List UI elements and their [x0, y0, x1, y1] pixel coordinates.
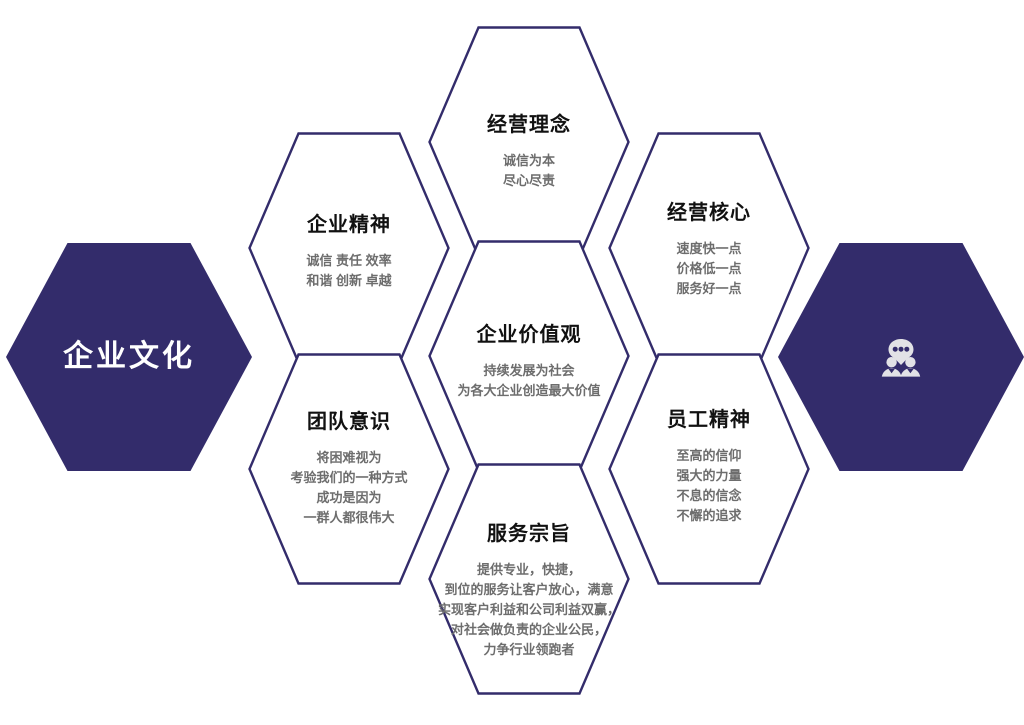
hexagon-lines-enterprise-spirit: 诚信 责任 效率 和谐 创新 卓越: [306, 251, 391, 291]
hexagon-line: 持续发展为社会: [457, 361, 600, 381]
hexagon-line: 力争行业领跑者: [438, 640, 620, 660]
hexagon-title-business-core: 经营核心: [667, 201, 751, 225]
hexagon-line: 将困难视为: [290, 448, 407, 468]
hexagon-line: 提供专业，快捷，: [438, 560, 620, 580]
hexagon-lines-service-purpose: 提供专业，快捷， 到位的服务让客户放心，满意 实现客户利益和公司利益双赢， 对社…: [438, 560, 620, 661]
hexagon-line: 诚信 责任 效率: [306, 251, 391, 271]
hexagon-line: 强大的力量: [676, 466, 741, 486]
hexagon-title-corporate-values: 企业价值观: [477, 323, 582, 347]
hexagon-line: 成功是因为: [290, 488, 407, 508]
hexagon-people-group[interactable]: [778, 243, 1024, 471]
hexagon-business-core[interactable]: 经营核心 速度快一点 价格低一点 服务好一点: [608, 132, 810, 364]
hexagon-title-employee-spirit: 员工精神: [667, 408, 751, 432]
hexagon-title-service-purpose: 服务宗旨: [487, 522, 571, 546]
hexagon-enterprise-culture[interactable]: 企业文化: [6, 243, 252, 471]
hexagon-line: 速度快一点: [676, 239, 741, 259]
hexagon-line: 尽心尽责: [503, 171, 555, 191]
hexagon-line: 到位的服务让客户放心，满意: [438, 580, 620, 600]
hexagon-title-team-awareness: 团队意识: [307, 410, 391, 434]
hexagon-line: 至高的信仰: [676, 446, 741, 466]
people-group-icon: [875, 331, 927, 383]
hexagon-line: 不息的信念: [676, 486, 741, 506]
hexagon-line: 服务好一点: [676, 279, 741, 299]
hexagon-title-enterprise-culture: 企业文化: [63, 339, 195, 375]
hexagon-line: 和谐 创新 卓越: [306, 271, 391, 291]
hexagon-lines-corporate-values: 持续发展为社会 为各大企业创造最大价值: [457, 361, 600, 401]
hexagon-lines-employee-spirit: 至高的信仰 强大的力量 不息的信念 不懈的追求: [676, 446, 741, 527]
hexagon-title-business-philosophy: 经营理念: [487, 113, 571, 137]
hexagon-lines-business-philosophy: 诚信为本 尽心尽责: [503, 151, 555, 191]
hexagon-team-awareness[interactable]: 团队意识 将困难视为 考验我们的一种方式 成功是因为 一群人都很伟大: [248, 353, 450, 585]
hexagon-line: 诚信为本: [503, 151, 555, 171]
hexagon-enterprise-spirit[interactable]: 企业精神 诚信 责任 效率 和谐 创新 卓越: [248, 132, 450, 364]
hexagon-service-purpose[interactable]: 服务宗旨 提供专业，快捷， 到位的服务让客户放心，满意 实现客户利益和公司利益双…: [428, 463, 630, 695]
hexagon-line: 一群人都很伟大: [290, 508, 407, 528]
hexagon-line: 价格低一点: [676, 259, 741, 279]
hexagon-lines-team-awareness: 将困难视为 考验我们的一种方式 成功是因为 一群人都很伟大: [290, 448, 407, 529]
hexagon-line: 为各大企业创造最大价值: [457, 381, 600, 401]
hexagon-business-philosophy[interactable]: 经营理念 诚信为本 尽心尽责: [428, 26, 630, 258]
hexagon-lines-business-core: 速度快一点 价格低一点 服务好一点: [676, 239, 741, 299]
diagram-canvas: 企业文化 经营理念: [0, 0, 1024, 725]
hexagon-line: 不懈的追求: [676, 506, 741, 526]
hexagon-line: 考验我们的一种方式: [290, 468, 407, 488]
hexagon-title-enterprise-spirit: 企业精神: [307, 213, 391, 237]
hexagon-corporate-values[interactable]: 企业价值观 持续发展为社会 为各大企业创造最大价值: [428, 240, 630, 472]
hexagon-line: 对社会做负责的企业公民，: [438, 620, 620, 640]
hexagon-line: 实现客户利益和公司利益双赢，: [438, 600, 620, 620]
hexagon-employee-spirit[interactable]: 员工精神 至高的信仰 强大的力量 不息的信念 不懈的追求: [608, 353, 810, 585]
